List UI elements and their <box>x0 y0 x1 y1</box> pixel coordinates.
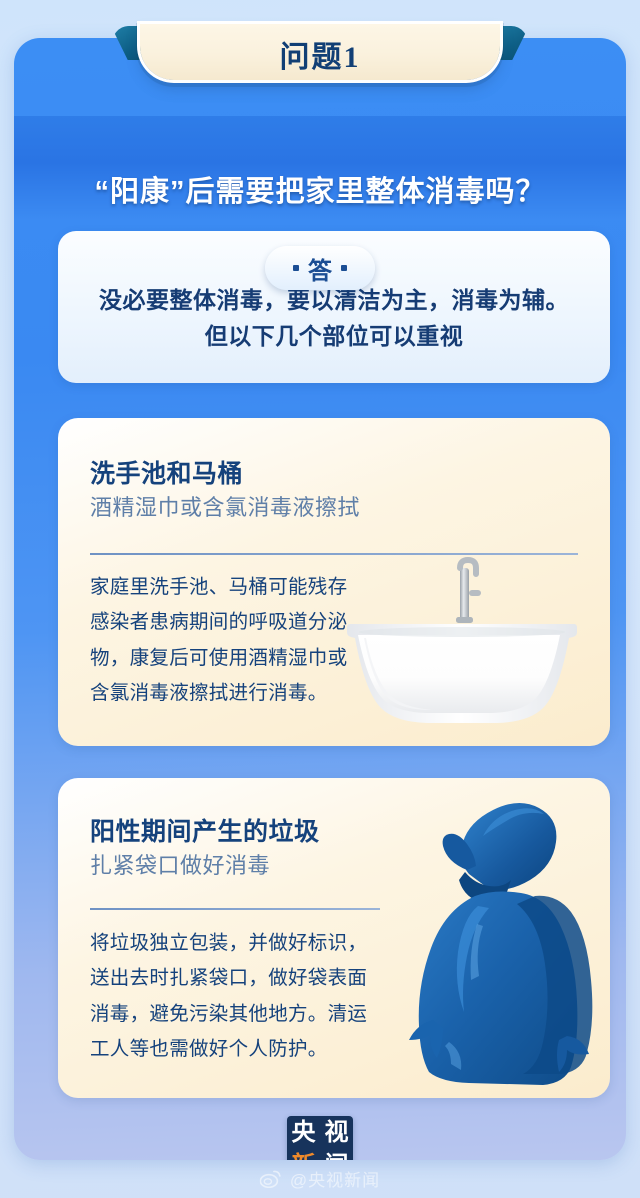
card-divider <box>90 908 380 910</box>
weibo-icon <box>260 1170 282 1188</box>
answer-badge: 答 <box>265 246 375 290</box>
card-body-text: 家庭里洗手池、马桶可能残存感染者患病期间的呼吸道分泌物，康复后可使用酒精湿巾或含… <box>90 570 358 712</box>
card-body-text: 将垃圾独立包装，并做好标识，送出去时扎紧袋口，做好袋表面消毒，避免污染其他地方。… <box>90 926 376 1068</box>
weibo-watermark: @央视新闻 <box>260 1166 380 1191</box>
headline-banner: “阳康”后需要把家里整体消毒吗？ <box>14 156 626 222</box>
trash-bag-illustration <box>397 792 602 1088</box>
info-card-sink-toilet: 洗手池和马桶 酒精湿巾或含氯消毒液擦拭 家庭里洗手池、马桶可能残存感染者患病期间… <box>58 418 610 746</box>
ribbon-plate: 问题1 <box>140 24 500 80</box>
watermark-label: @央视新闻 <box>290 1166 380 1191</box>
poster-panel: “阳康”后需要把家里整体消毒吗？ 没必要整体消毒，要以清洁为主，消毒为辅。 但以… <box>14 38 626 1160</box>
badge-dot-left-icon <box>293 265 299 271</box>
logo-char-1: 央 <box>292 1121 316 1145</box>
logo-char-4: 闻 <box>325 1154 349 1161</box>
answer-badge-label: 答 <box>308 251 332 286</box>
answer-line-2: 但以下几个部位可以重视 <box>58 319 610 355</box>
bathtub-illustration <box>338 538 586 723</box>
card-subtitle: 酒精湿巾或含氯消毒液擦拭 <box>90 490 360 522</box>
card-subtitle: 扎紧袋口做好消毒 <box>90 848 270 880</box>
card-title: 洗手池和马桶 <box>90 454 243 490</box>
ribbon-banner: 问题1 <box>0 0 640 100</box>
logo-char-2: 视 <box>325 1121 349 1145</box>
logo-char-3: 新 <box>292 1154 316 1161</box>
question-number-label: 问题1 <box>280 32 361 76</box>
page-title: “阳康”后需要把家里整体消毒吗？ <box>94 168 545 210</box>
info-card-trash: 阳性期间产生的垃圾 扎紧袋口做好消毒 将垃圾独立包装，并做好标识，送出去时扎紧袋… <box>58 778 610 1098</box>
cctv-news-logo: 央 视 新 闻 <box>287 1116 353 1160</box>
card-title: 阳性期间产生的垃圾 <box>90 812 320 848</box>
badge-dot-right-icon <box>341 265 347 271</box>
